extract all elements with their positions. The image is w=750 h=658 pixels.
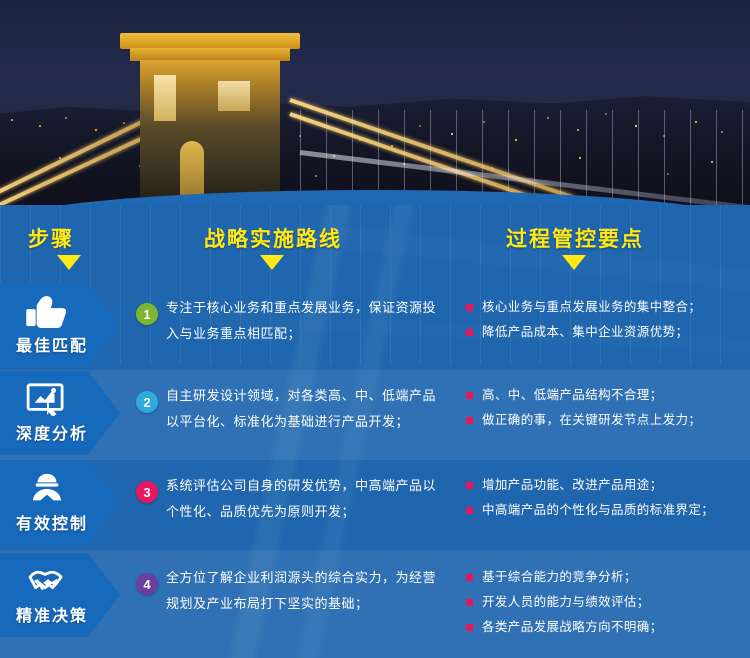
- list-item: 增加产品功能、改进产品用途；: [466, 473, 746, 498]
- triangle-down-icon-route: [260, 255, 284, 270]
- step-number-badge-4: 4: [136, 573, 158, 595]
- step-tab-label-1: 最佳匹配: [16, 332, 88, 356]
- triangle-down-icon-step: [57, 255, 81, 270]
- step-number-badge-1: 1: [136, 303, 158, 325]
- step-number-badge-3: 3: [136, 481, 158, 503]
- route-text-2: 自主研发设计领域，对各类高、中、低端产品以平台化、标准化为基础进行产品开发；: [166, 383, 446, 435]
- heading-control: 过程管控要点: [506, 223, 644, 253]
- list-item: 高、中、低端产品结构不合理；: [466, 383, 746, 408]
- tower-opening-left: [154, 75, 176, 121]
- tower-cap: [120, 33, 300, 49]
- control-point-text: 增加产品功能、改进产品用途；: [482, 473, 663, 498]
- bullet-square-icon: [466, 574, 473, 581]
- control-point-text: 核心业务与重点发展业务的集中整合；: [482, 295, 701, 320]
- chart-screen-click-icon: [24, 382, 70, 416]
- heading-step: 步骤: [28, 223, 74, 253]
- bullet-square-icon: [466, 482, 473, 489]
- infographic-page: 步骤 战略实施路线 过程管控要点 最佳匹配 1 专注于核心业务和重点发展业务，保…: [0, 0, 750, 658]
- table-row: 有效控制 3 系统评估公司自身的研发优势，中高端产品以个性化、品质优先为原则开发…: [0, 461, 750, 551]
- control-point-text: 降低产品成本、集中企业资源优势；: [482, 320, 688, 345]
- triangle-down-icon-control: [562, 255, 586, 270]
- bullet-square-icon: [466, 304, 473, 311]
- route-text-3: 系统评估公司自身的研发优势，中高端产品以个性化、品质优先为原则开发；: [166, 473, 446, 525]
- table-row: 最佳匹配 1 专注于核心业务和重点发展业务，保证资源投入与业务重点相匹配； 核心…: [0, 283, 750, 373]
- banner-photo: [0, 0, 750, 205]
- control-point-text: 做正确的事，在关键研发节点上发力；: [482, 408, 701, 433]
- bullet-square-icon: [466, 417, 473, 424]
- heading-route: 战略实施路线: [204, 223, 342, 253]
- step-tab-label-2: 深度分析: [16, 420, 88, 444]
- control-points-3: 增加产品功能、改进产品用途； 中高端产品的个性化与品质的标准界定；: [466, 473, 746, 523]
- step-tab-1[interactable]: 最佳匹配: [0, 283, 120, 367]
- list-item: 降低产品成本、集中企业资源优势；: [466, 320, 746, 345]
- content-panel: 步骤 战略实施路线 过程管控要点 最佳匹配 1 专注于核心业务和重点发展业务，保…: [0, 205, 750, 658]
- handshake-icon: [24, 564, 70, 598]
- list-item: 基于综合能力的竞争分析；: [466, 565, 746, 590]
- step-tab-3[interactable]: 有效控制: [0, 461, 120, 545]
- control-points-1: 核心业务与重点发展业务的集中整合； 降低产品成本、集中企业资源优势；: [466, 295, 746, 345]
- list-item: 中高端产品的个性化与品质的标准界定；: [466, 498, 746, 523]
- bullet-square-icon: [466, 507, 473, 514]
- control-point-text: 各类产品发展战略方向不明确；: [482, 615, 663, 640]
- list-item: 核心业务与重点发展业务的集中整合；: [466, 295, 746, 320]
- control-point-text: 高、中、低端产品结构不合理；: [482, 383, 663, 408]
- control-points-2: 高、中、低端产品结构不合理； 做正确的事，在关键研发节点上发力；: [466, 383, 746, 433]
- list-item: 做正确的事，在关键研发节点上发力；: [466, 408, 746, 433]
- bullet-square-icon: [466, 392, 473, 399]
- bullet-square-icon: [466, 624, 473, 631]
- bullet-square-icon: [466, 329, 473, 336]
- step-tab-label-4: 精准决策: [16, 602, 88, 626]
- table-row: 深度分析 2 自主研发设计领域，对各类高、中、低端产品以平台化、标准化为基础进行…: [0, 371, 750, 461]
- bridge-tower: [120, 33, 300, 205]
- control-points-4: 基于综合能力的竞争分析； 开发人员的能力与绩效评估； 各类产品发展战略方向不明确…: [466, 565, 746, 640]
- list-item: 各类产品发展战略方向不明确；: [466, 615, 746, 640]
- worker-person-icon: [24, 472, 70, 506]
- route-text-4: 全方位了解企业利润源头的综合实力，为经营规划及产业布局打下坚实的基础；: [166, 565, 446, 617]
- list-item: 开发人员的能力与绩效评估；: [466, 590, 746, 615]
- bullet-square-icon: [466, 599, 473, 606]
- step-tab-4[interactable]: 精准决策: [0, 553, 120, 637]
- route-text-1: 专注于核心业务和重点发展业务，保证资源投入与业务重点相匹配；: [166, 295, 446, 347]
- control-point-text: 开发人员的能力与绩效评估；: [482, 590, 650, 615]
- tower-opening-right: [218, 81, 250, 111]
- step-number-badge-2: 2: [136, 391, 158, 413]
- column-headings: 步骤 战略实施路线 过程管控要点: [0, 205, 750, 285]
- control-point-text: 中高端产品的个性化与品质的标准界定；: [482, 498, 714, 523]
- thumbs-up-icon: [24, 294, 70, 328]
- step-tab-2[interactable]: 深度分析: [0, 371, 120, 455]
- control-point-text: 基于综合能力的竞争分析；: [482, 565, 637, 590]
- table-row: 精准决策 4 全方位了解企业利润源头的综合实力，为经营规划及产业布局打下坚实的基…: [0, 553, 750, 643]
- step-tab-label-3: 有效控制: [16, 510, 88, 534]
